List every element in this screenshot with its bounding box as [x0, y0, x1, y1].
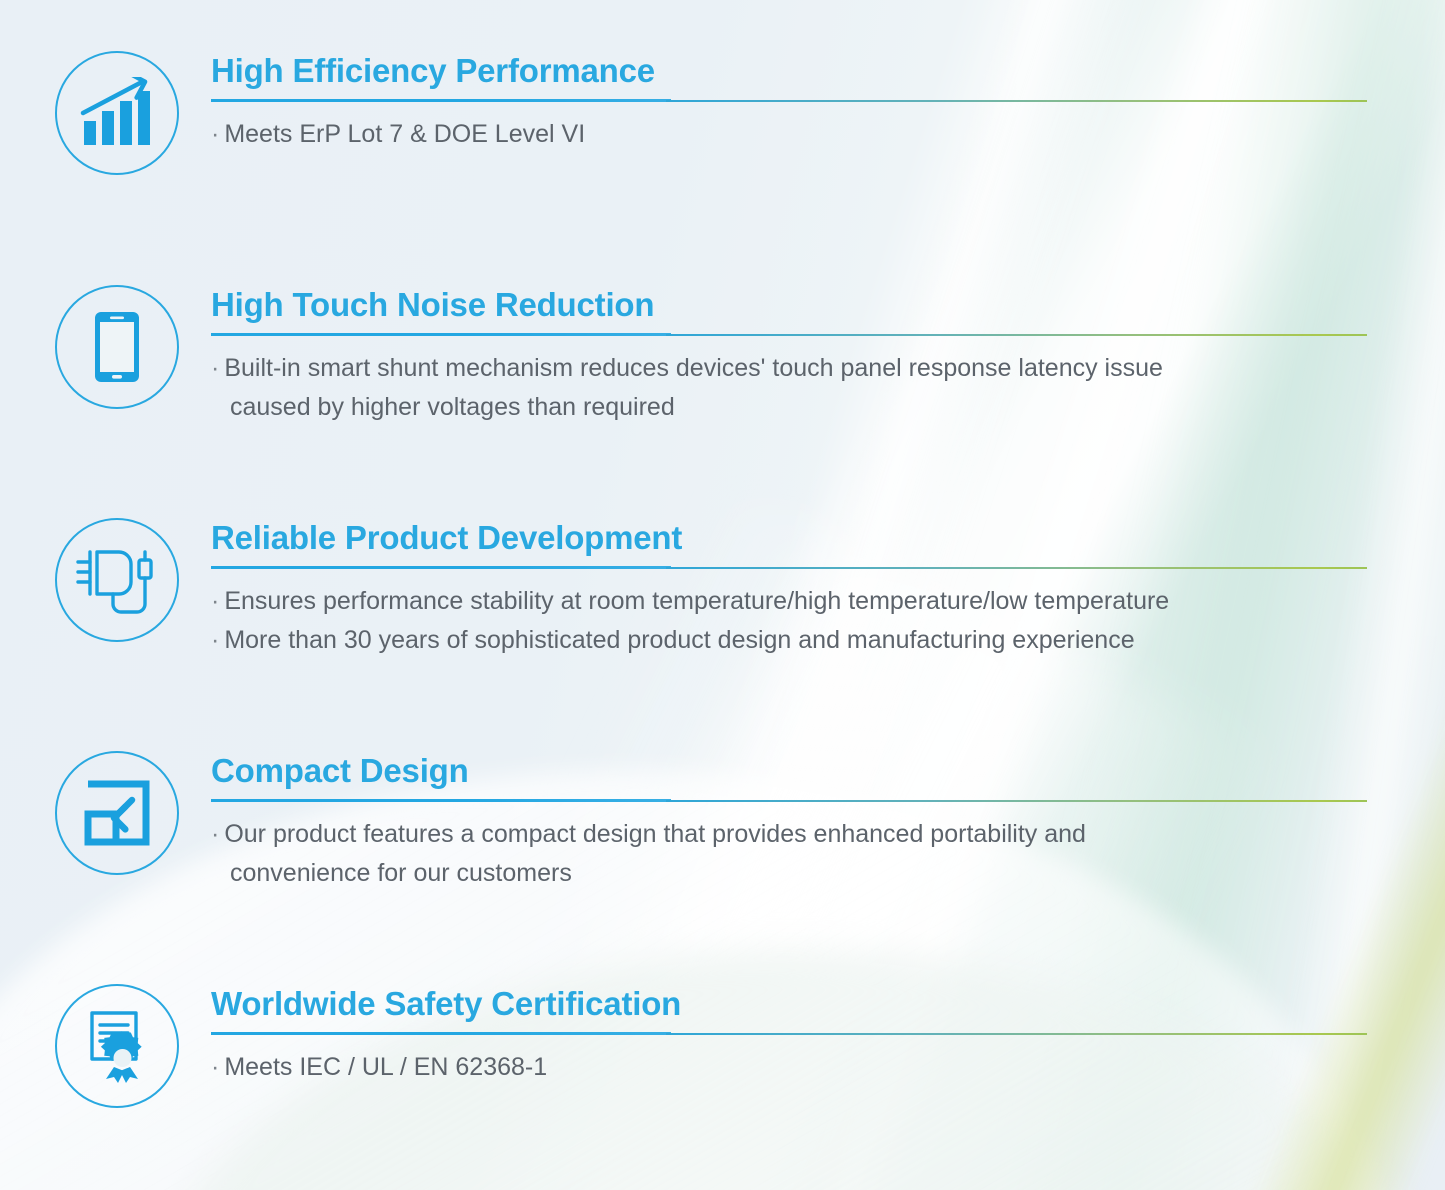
- feature-list-page: High Efficiency Performance ·Meets ErP L…: [0, 0, 1445, 1190]
- feature-bullets: ·Ensures performance stability at room t…: [211, 582, 1445, 660]
- feature-icon-wrap: [55, 518, 179, 642]
- bullet-text: convenience for our customers: [211, 854, 572, 893]
- power-adapter-icon: [55, 518, 179, 642]
- feature-bullets: ·Built-in smart shunt mechanism reduces …: [211, 349, 1445, 427]
- bullet-text: Ensures performance stability at room te…: [224, 587, 1169, 615]
- compact-resize-icon: [55, 751, 179, 875]
- bullet-marker: ·: [211, 626, 219, 654]
- feature-icon-wrap: [55, 984, 179, 1108]
- bullet-text: Meets ErP Lot 7 & DOE Level VI: [224, 120, 585, 148]
- bullet-text: Built-in smart shunt mechanism reduces d…: [224, 354, 1163, 382]
- feature-title: High Touch Noise Reduction: [211, 285, 1445, 325]
- feature-content: Compact Design ·Our product features a c…: [211, 751, 1445, 893]
- feature-bullets: ·Meets ErP Lot 7 & DOE Level VI: [211, 115, 1445, 154]
- bullet-line: ·Ensures performance stability at room t…: [211, 582, 1445, 621]
- feature-icon-wrap: [55, 285, 179, 409]
- bullet-text: caused by higher voltages than required: [211, 388, 675, 427]
- feature-content: Worldwide Safety Certification ·Meets IE…: [211, 984, 1445, 1087]
- bullet-text: More than 30 years of sophisticated prod…: [224, 626, 1134, 654]
- smartphone-icon: [55, 285, 179, 409]
- bullet-marker: ·: [211, 587, 219, 615]
- bullet-marker: ·: [211, 820, 219, 848]
- feature-icon-wrap: [55, 751, 179, 875]
- bullet-line: ·Our product features a compact design t…: [211, 815, 1445, 854]
- feature-content: Reliable Product Development ·Ensures pe…: [211, 518, 1445, 660]
- feature-divider: [211, 565, 1367, 570]
- feature-title: Reliable Product Development: [211, 518, 1445, 558]
- feature-divider: [211, 98, 1367, 103]
- feature-title: High Efficiency Performance: [211, 51, 1445, 91]
- feature-title: Compact Design: [211, 751, 1445, 791]
- bullet-marker: ·: [211, 120, 219, 148]
- bullet-line: ·More than 30 years of sophisticated pro…: [211, 621, 1445, 660]
- bullet-line-continued: caused by higher voltages than required: [211, 388, 1445, 427]
- bullet-line: ·Meets IEC / UL / EN 62368-1: [211, 1048, 1445, 1087]
- bullet-line: ·Meets ErP Lot 7 & DOE Level VI: [211, 115, 1445, 154]
- bullet-text: Meets IEC / UL / EN 62368-1: [224, 1053, 547, 1081]
- feature-divider: [211, 1031, 1367, 1036]
- bullet-line-continued: convenience for our customers: [211, 854, 1445, 893]
- bullet-text: Our product features a compact design th…: [224, 820, 1086, 848]
- certificate-award-icon: [55, 984, 179, 1108]
- bullet-marker: ·: [211, 354, 219, 382]
- feature-title: Worldwide Safety Certification: [211, 984, 1445, 1024]
- feature-divider: [211, 332, 1367, 337]
- feature-bullets: ·Meets IEC / UL / EN 62368-1: [211, 1048, 1445, 1087]
- bar-chart-growth-icon: [55, 51, 179, 175]
- feature-icon-wrap: [55, 51, 179, 175]
- feature-bullets: ·Our product features a compact design t…: [211, 815, 1445, 893]
- bullet-line: ·Built-in smart shunt mechanism reduces …: [211, 349, 1445, 388]
- feature-divider: [211, 798, 1367, 803]
- feature-content: High Touch Noise Reduction ·Built-in sma…: [211, 285, 1445, 427]
- feature-content: High Efficiency Performance ·Meets ErP L…: [211, 51, 1445, 154]
- bullet-marker: ·: [211, 1053, 219, 1081]
